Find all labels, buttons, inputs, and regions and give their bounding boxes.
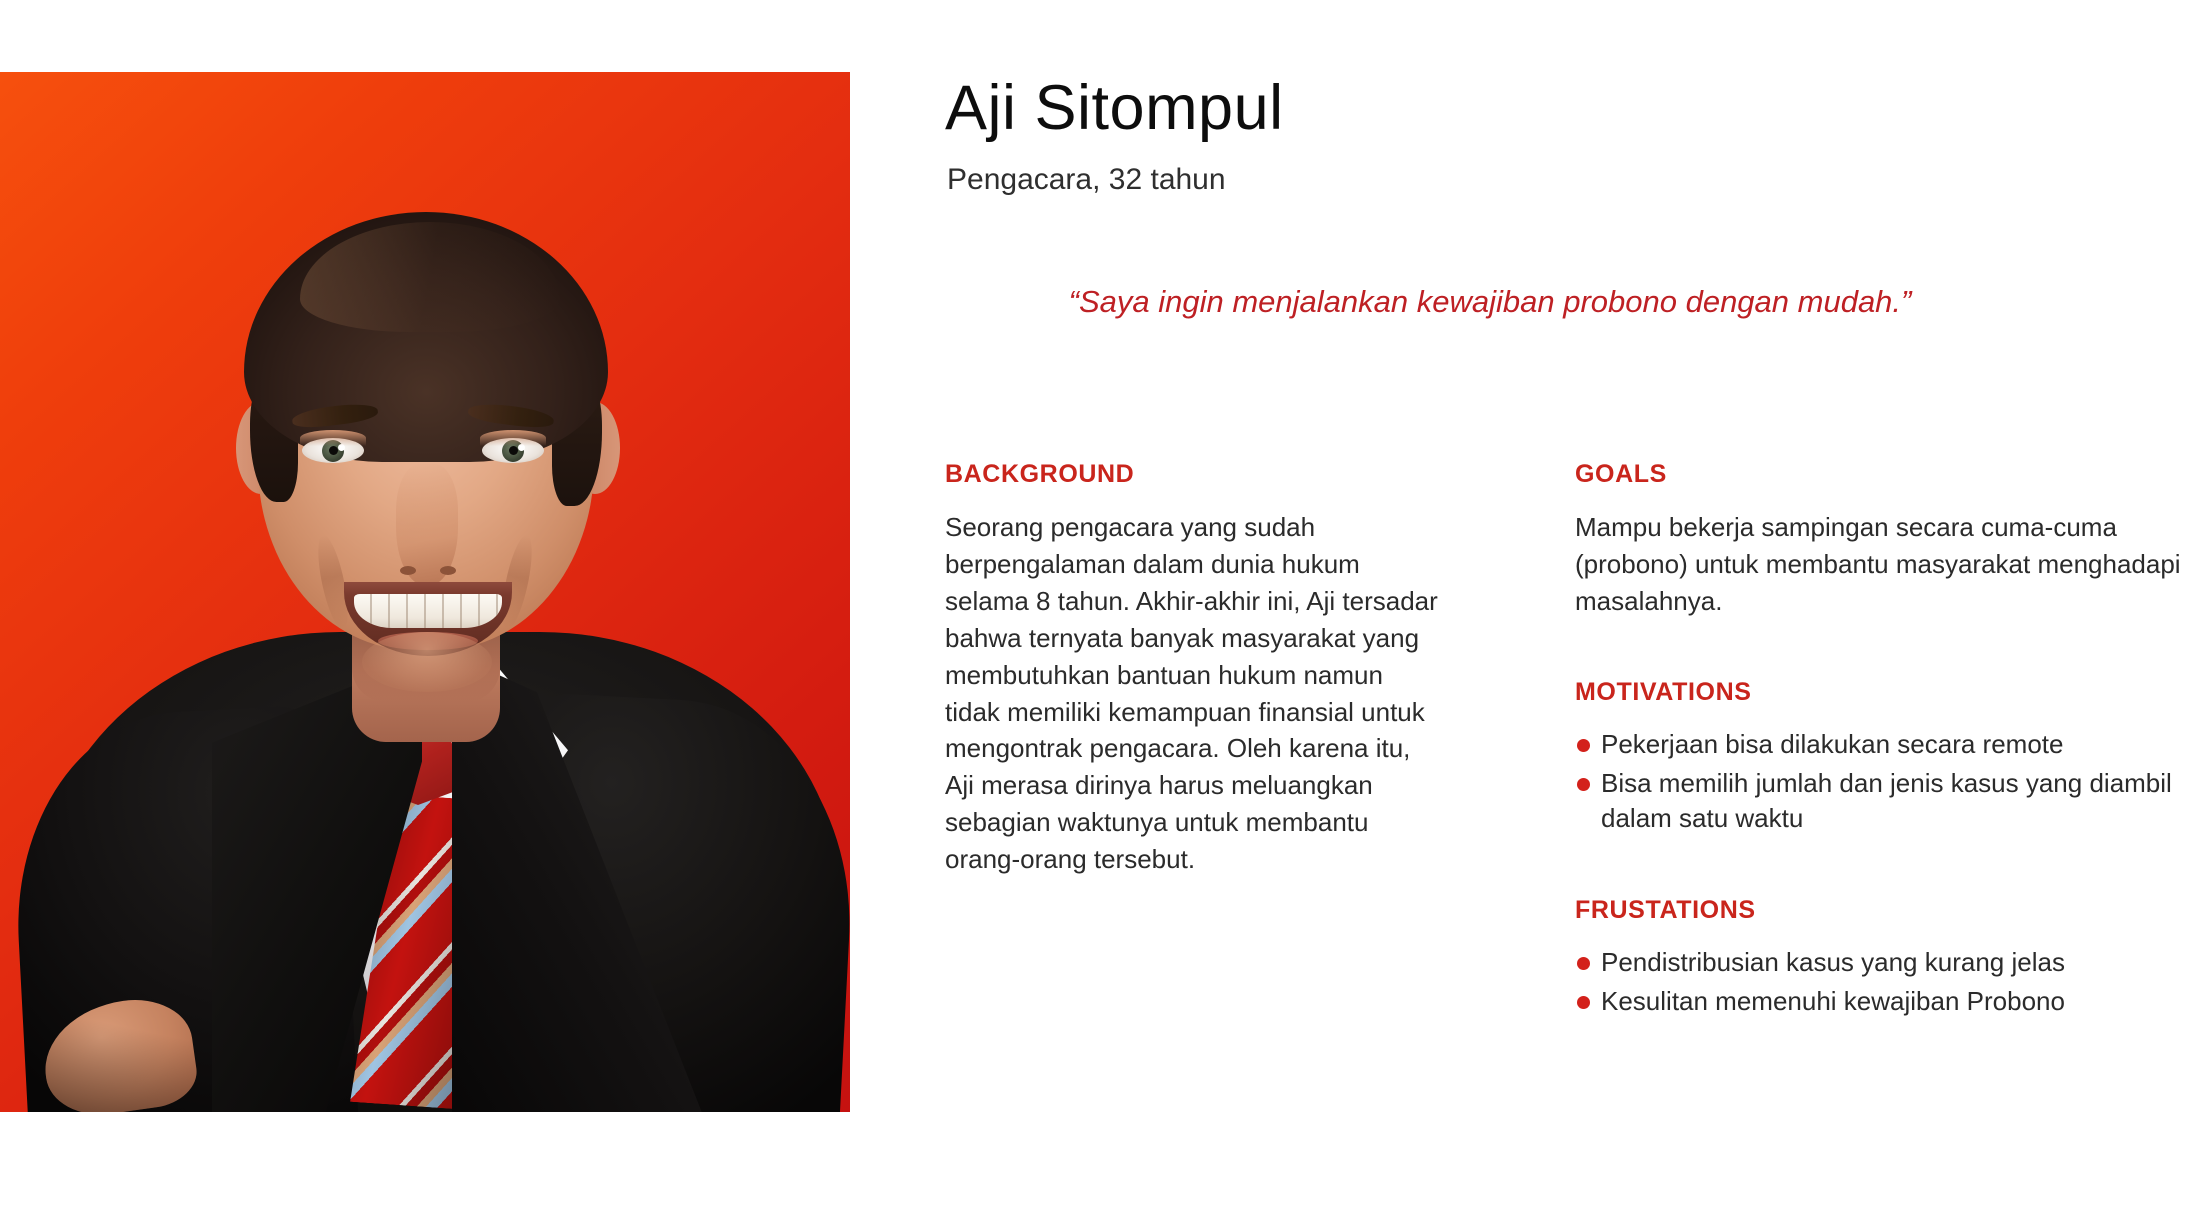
eyelid-right: [480, 430, 546, 446]
eyelid-left: [300, 430, 366, 446]
goals-block: GOALS Mampu bekerja sampingan secara cum…: [1575, 460, 2197, 620]
bullet-dot-icon: [1577, 739, 1590, 752]
list-item-label: Pekerjaan bisa dilakukan secara remote: [1601, 729, 2063, 759]
list-item: Bisa memilih jumlah dan jenis kasus yang…: [1575, 766, 2197, 836]
nostril-left: [400, 566, 416, 575]
list-item: Pendistribusian kasus yang kurang jelas: [1575, 945, 2197, 980]
motivations-block: MOTIVATIONS Pekerjaan bisa dilakukan sec…: [1575, 678, 2197, 836]
persona-content: Aji Sitompul Pengacara, 32 tahun “Saya i…: [945, 0, 2197, 1211]
chin-highlight: [362, 632, 492, 692]
frustations-heading: FRUSTATIONS: [1575, 896, 2197, 925]
goals-text: Mampu bekerja sampingan secara cuma-cuma…: [1575, 509, 2197, 620]
motivations-heading: MOTIVATIONS: [1575, 678, 2197, 707]
background-heading: BACKGROUND: [945, 460, 1445, 489]
list-item: Kesulitan memenuhi kewajiban Probono: [1575, 984, 2197, 1019]
column-goals-motivations-frustations: GOALS Mampu bekerja sampingan secara cum…: [1575, 460, 2197, 1023]
nostril-right: [440, 566, 456, 575]
persona-name: Aji Sitompul: [945, 75, 1284, 141]
persona-slide: Aji Sitompul Pengacara, 32 tahun “Saya i…: [0, 0, 2197, 1211]
list-item-label: Kesulitan memenuhi kewajiban Probono: [1601, 986, 2065, 1016]
list-item-label: Pendistribusian kasus yang kurang jelas: [1601, 947, 2065, 977]
bullet-dot-icon: [1577, 778, 1590, 791]
goals-heading: GOALS: [1575, 460, 2197, 489]
teeth-separations: [354, 594, 502, 628]
frustations-list: Pendistribusian kasus yang kurang jelas …: [1575, 945, 2197, 1019]
bullet-dot-icon: [1577, 957, 1590, 970]
bullet-dot-icon: [1577, 996, 1590, 1009]
persona-role: Pengacara, 32 tahun: [947, 163, 1226, 197]
column-background: BACKGROUND Seorang pengacara yang sudah …: [945, 460, 1445, 878]
background-text: Seorang pengacara yang sudah berpengalam…: [945, 509, 1445, 878]
persona-quote: “Saya ingin menjalankan kewajiban probon…: [1050, 282, 1930, 323]
pupil-right: [509, 446, 518, 455]
list-item: Pekerjaan bisa dilakukan secara remote: [1575, 727, 2197, 762]
motivations-list: Pekerjaan bisa dilakukan secara remote B…: [1575, 727, 2197, 836]
frustations-block: FRUSTATIONS Pendistribusian kasus yang k…: [1575, 896, 2197, 1019]
list-item-label: Bisa memilih jumlah dan jenis kasus yang…: [1601, 768, 2172, 833]
persona-photo: [0, 72, 850, 1112]
portrait-figure: [0, 72, 850, 1112]
pupil-left: [329, 446, 338, 455]
